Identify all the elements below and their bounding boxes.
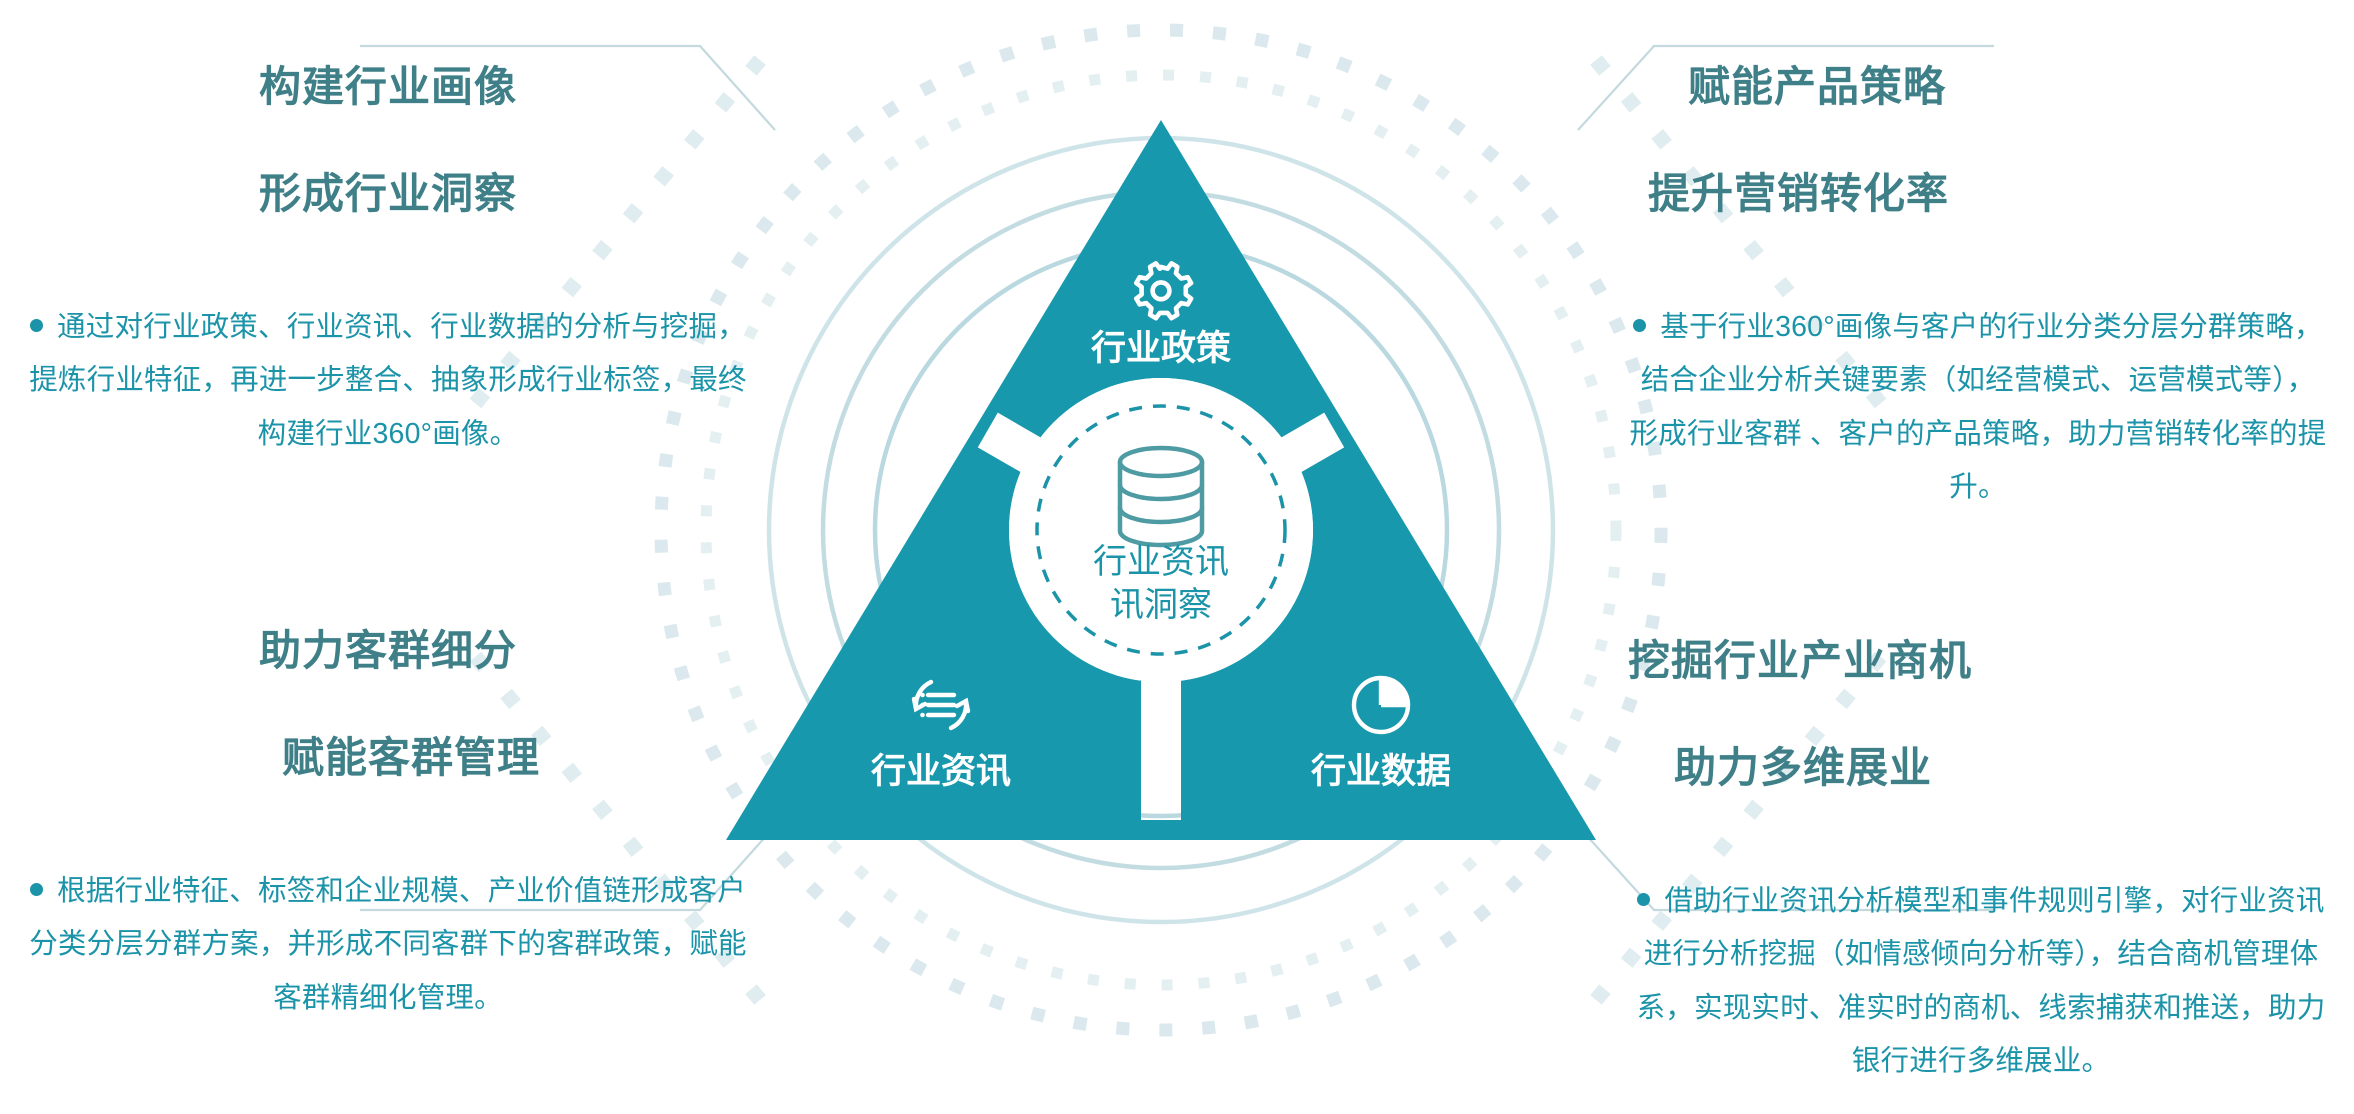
block-top-left-body-text: 通过对行业政策、行业资讯、行业数据的分析与挖掘，提炼行业特征，再进一步整合、抽象… [29, 311, 747, 450]
heading-line-1: 挖掘行业产业商机 [1628, 634, 2334, 688]
block-top-left-body: 通过对行业政策、行业资讯、行业数据的分析与挖掘，提炼行业特征，再进一步整合、抽象… [28, 301, 748, 462]
block-bottom-left-body: 根据行业特征、标签和企业规模、产业价值链形成客户分类分层分群方案，并形成不同客群… [28, 865, 748, 1026]
block-top-right-body-text: 基于行业360°画像与客户的行业分类分层分群策略，结合企业分析关键要素（如经营模… [1630, 311, 2327, 504]
bullet-dot-icon [30, 883, 43, 896]
segment-data-label: 行业数据 [1311, 752, 1451, 791]
bullet-dot-icon [1633, 319, 1646, 332]
heading-line-2: 助力多维展业 [1628, 741, 2334, 795]
block-bottom-left: 助力客群细分 赋能客群管理 根据行业特征、标签和企业规模、产业价值链形成客户分类… [28, 570, 748, 1025]
block-top-right: 赋能产品策略 提升营销转化率 基于行业360°画像与客户的行业分类分层分群策略，… [1628, 6, 2328, 515]
block-top-right-heading: 赋能产品策略 提升营销转化率 [1628, 6, 2328, 275]
bullet-dot-icon [1637, 893, 1650, 906]
block-top-left-heading: 构建行业画像 形成行业洞察 [28, 6, 748, 275]
block-bottom-left-heading: 助力客群细分 赋能客群管理 [28, 570, 748, 839]
block-top-left: 构建行业画像 形成行业洞察 通过对行业政策、行业资讯、行业数据的分析与挖掘，提炼… [28, 6, 748, 461]
block-top-right-body: 基于行业360°画像与客户的行业分类分层分群策略，结合企业分析关键要素（如经营模… [1628, 301, 2328, 515]
heading-line-1: 助力客群细分 [28, 624, 748, 678]
segment-policy-label: 行业政策 [1091, 329, 1231, 368]
block-bottom-left-body-text: 根据行业特征、标签和企业规模、产业价值链形成客户分类分层分群方案，并形成不同客群… [29, 875, 747, 1014]
infographic-canvas: 行业资讯 讯洞察 行业政策 [0, 0, 2354, 1114]
block-bottom-right-body-text: 借助行业资讯分析模型和事件规则引擎，对行业资讯进行分析挖掘（如情感倾向分析等），… [1637, 885, 2326, 1078]
center-label-line2: 讯洞察 [1110, 586, 1212, 624]
heading-line-1: 赋能产品策略 [1648, 60, 2328, 114]
bullet-dot-icon [30, 319, 43, 332]
heading-line-2: 赋能客群管理 [28, 731, 748, 785]
center-disc [1009, 378, 1313, 682]
block-bottom-right: 挖掘行业产业商机 助力多维展业 借助行业资讯分析模型和事件规则引擎，对行业资讯进… [1628, 580, 2334, 1089]
triangle-diagram: 行业资讯 讯洞察 行业政策 [701, 30, 1621, 1030]
heading-line-2: 形成行业洞察 [28, 167, 748, 221]
segment-news-label: 行业资讯 [871, 752, 1011, 791]
block-bottom-right-body: 借助行业资讯分析模型和事件规则引擎，对行业资讯进行分析挖掘（如情感倾向分析等），… [1628, 875, 2334, 1089]
center-label-line1: 行业资讯 [1093, 543, 1229, 581]
heading-line-1: 构建行业画像 [28, 60, 748, 114]
block-bottom-right-heading: 挖掘行业产业商机 助力多维展业 [1628, 580, 2334, 849]
heading-line-2: 提升营销转化率 [1648, 167, 2328, 221]
